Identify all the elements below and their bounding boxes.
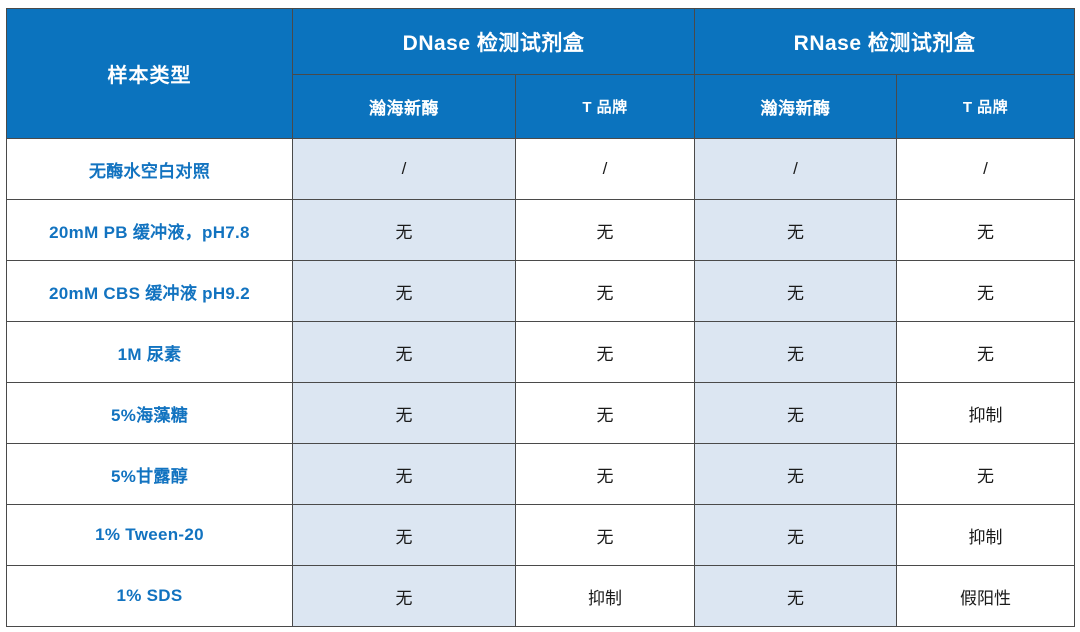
table-row: 1% SDS 无 抑制 无 假阳性 — [7, 566, 1075, 627]
cell-rnase-hanhai: / — [695, 139, 897, 200]
cell-dnase-hanhai: 无 — [293, 200, 516, 261]
cell-rnase-hanhai: 无 — [695, 505, 897, 566]
header-row-groups: 样本类型 DNase 检测试剂盒 RNase 检测试剂盒 — [7, 9, 1075, 75]
row-label: 20mM CBS 缓冲液 pH9.2 — [7, 261, 293, 322]
cell-dnase-hanhai: 无 — [293, 444, 516, 505]
header-sub-rnase-hanhai: 瀚海新酶 — [695, 75, 897, 139]
cell-rnase-tbrand: 抑制 — [897, 383, 1075, 444]
header-sub-rnase-tbrand: T 品牌 — [897, 75, 1075, 139]
table-header: 样本类型 DNase 检测试剂盒 RNase 检测试剂盒 瀚海新酶 T 品牌 瀚… — [7, 9, 1075, 139]
cell-rnase-tbrand: 无 — [897, 444, 1075, 505]
table-body: 无酶水空白对照 / / / / 20mM PB 缓冲液，pH7.8 无 无 无 … — [7, 139, 1075, 627]
cell-rnase-tbrand: / — [897, 139, 1075, 200]
enzyme-detection-comparison-table: 样本类型 DNase 检测试剂盒 RNase 检测试剂盒 瀚海新酶 T 品牌 瀚… — [6, 8, 1075, 627]
cell-dnase-hanhai: 无 — [293, 505, 516, 566]
cell-dnase-hanhai: / — [293, 139, 516, 200]
row-label: 1% Tween-20 — [7, 505, 293, 566]
cell-dnase-hanhai: 无 — [293, 261, 516, 322]
cell-rnase-hanhai: 无 — [695, 200, 897, 261]
table-row: 5%甘露醇 无 无 无 无 — [7, 444, 1075, 505]
cell-dnase-tbrand: 无 — [516, 383, 695, 444]
cell-dnase-tbrand: 无 — [516, 261, 695, 322]
cell-rnase-tbrand: 假阳性 — [897, 566, 1075, 627]
row-label: 1M 尿素 — [7, 322, 293, 383]
cell-dnase-hanhai: 无 — [293, 566, 516, 627]
cell-rnase-tbrand: 无 — [897, 200, 1075, 261]
cell-dnase-tbrand: / — [516, 139, 695, 200]
cell-dnase-tbrand: 无 — [516, 505, 695, 566]
header-sub-dnase-hanhai: 瀚海新酶 — [293, 75, 516, 139]
row-label: 5%海藻糖 — [7, 383, 293, 444]
row-label: 1% SDS — [7, 566, 293, 627]
table-row: 5%海藻糖 无 无 无 抑制 — [7, 383, 1075, 444]
cell-dnase-tbrand: 无 — [516, 200, 695, 261]
cell-dnase-hanhai: 无 — [293, 322, 516, 383]
table-row: 1M 尿素 无 无 无 无 — [7, 322, 1075, 383]
cell-rnase-tbrand: 无 — [897, 322, 1075, 383]
cell-rnase-hanhai: 无 — [695, 261, 897, 322]
table-row: 20mM PB 缓冲液，pH7.8 无 无 无 无 — [7, 200, 1075, 261]
cell-rnase-hanhai: 无 — [695, 566, 897, 627]
cell-dnase-tbrand: 无 — [516, 322, 695, 383]
table-row: 20mM CBS 缓冲液 pH9.2 无 无 无 无 — [7, 261, 1075, 322]
cell-rnase-hanhai: 无 — [695, 383, 897, 444]
table-row: 1% Tween-20 无 无 无 抑制 — [7, 505, 1075, 566]
header-group-dnase: DNase 检测试剂盒 — [293, 9, 695, 75]
row-label: 20mM PB 缓冲液，pH7.8 — [7, 200, 293, 261]
cell-dnase-tbrand: 无 — [516, 444, 695, 505]
cell-rnase-tbrand: 抑制 — [897, 505, 1075, 566]
row-label: 5%甘露醇 — [7, 444, 293, 505]
cell-dnase-hanhai: 无 — [293, 383, 516, 444]
table-row: 无酶水空白对照 / / / / — [7, 139, 1075, 200]
header-sample-type: 样本类型 — [7, 9, 293, 139]
row-label: 无酶水空白对照 — [7, 139, 293, 200]
cell-rnase-hanhai: 无 — [695, 322, 897, 383]
cell-dnase-tbrand: 抑制 — [516, 566, 695, 627]
comparison-table-container: 样本类型 DNase 检测试剂盒 RNase 检测试剂盒 瀚海新酶 T 品牌 瀚… — [6, 8, 1074, 622]
header-sub-dnase-tbrand: T 品牌 — [516, 75, 695, 139]
header-group-rnase: RNase 检测试剂盒 — [695, 9, 1075, 75]
cell-rnase-hanhai: 无 — [695, 444, 897, 505]
cell-rnase-tbrand: 无 — [897, 261, 1075, 322]
